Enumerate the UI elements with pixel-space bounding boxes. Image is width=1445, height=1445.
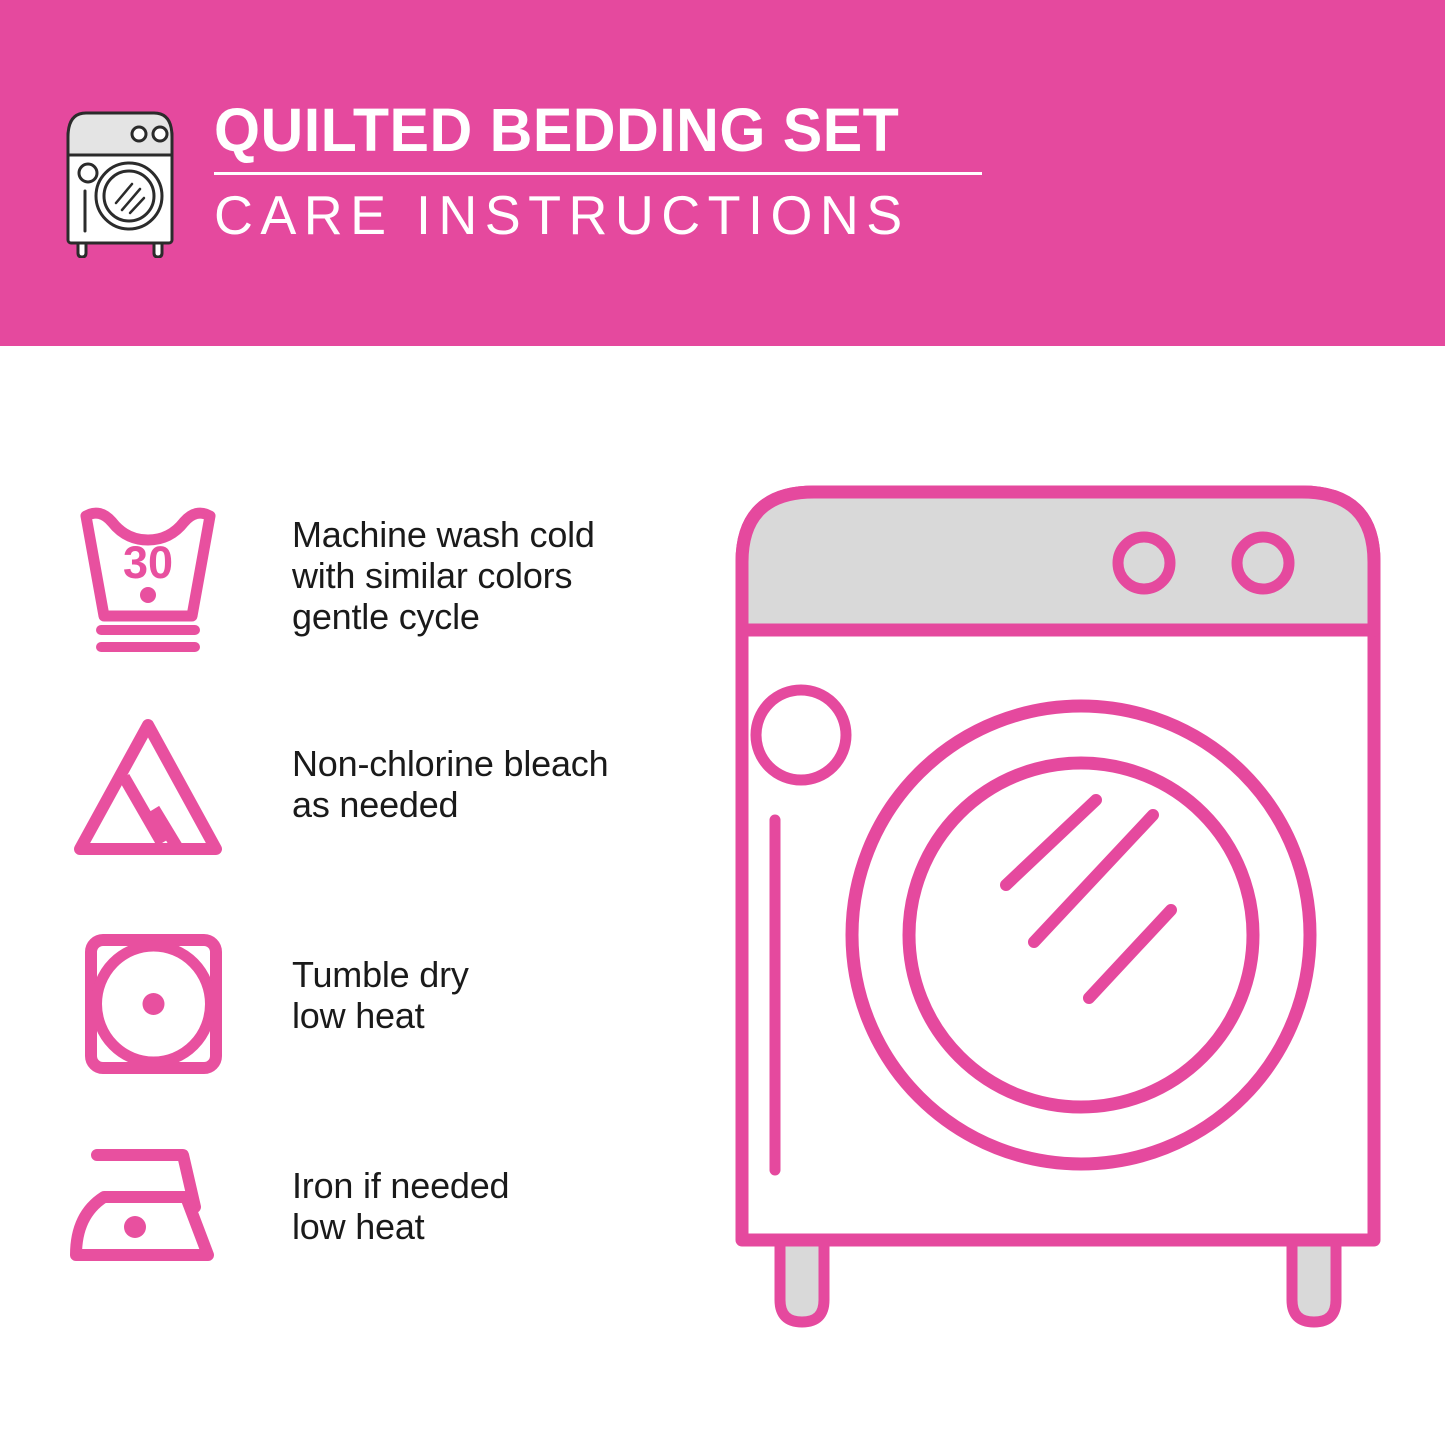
care-text-line: Non-chlorine bleach: [292, 743, 684, 784]
care-instruction-list: 30 Machine wash cold with similar colors…: [64, 492, 684, 1352]
care-text-line: low heat: [292, 995, 684, 1036]
machine-leg-right: [1292, 1238, 1336, 1322]
header-content: QUILTED BEDDING SET CARE INSTRUCTIONS: [56, 95, 996, 260]
bleach-triangle-icon: [64, 707, 234, 867]
control-knob-right: [1237, 537, 1289, 589]
washing-machine-illustration: [718, 470, 1398, 1360]
header-text-column: QUILTED BEDDING SET CARE INSTRUCTIONS: [214, 95, 996, 246]
care-text-line: Machine wash cold: [292, 514, 684, 555]
care-item-iron-label: Iron if needed low heat: [292, 1137, 684, 1247]
care-text-line: low heat: [292, 1206, 684, 1247]
care-text-line: gentle cycle: [292, 596, 684, 637]
control-knob-left: [1118, 537, 1170, 589]
care-item-tumble-dry-label: Tumble dry low heat: [292, 922, 684, 1036]
care-instructions-infographic: QUILTED BEDDING SET CARE INSTRUCTIONS 30: [0, 0, 1445, 1445]
care-item-bleach-label: Non-chlorine bleach as needed: [292, 707, 684, 825]
care-item-wash-label: Machine wash cold with similar colors ge…: [292, 492, 684, 637]
header-banner: QUILTED BEDDING SET CARE INSTRUCTIONS: [0, 0, 1445, 346]
care-text-line: with similar colors: [292, 555, 684, 596]
indicator-circle: [756, 690, 846, 780]
wash-temperature-label: 30: [123, 537, 173, 588]
care-text-line: Tumble dry: [292, 954, 684, 995]
tumble-dry-icon: [64, 922, 234, 1082]
page-subtitle: CARE INSTRUCTIONS: [214, 184, 980, 246]
machine-leg-left: [780, 1238, 824, 1322]
care-text-line: as needed: [292, 784, 684, 825]
care-item-wash: 30 Machine wash cold with similar colors…: [64, 492, 684, 707]
iron-icon: [64, 1137, 234, 1297]
wash-tub-icon: 30: [64, 492, 234, 652]
header-divider: [214, 172, 982, 175]
page-title: QUILTED BEDDING SET: [214, 97, 973, 163]
care-item-tumble-dry: Tumble dry low heat: [64, 922, 684, 1137]
care-item-iron: Iron if needed low heat: [64, 1137, 684, 1352]
care-item-bleach: Non-chlorine bleach as needed: [64, 707, 684, 922]
care-text-line: Iron if needed: [292, 1165, 684, 1206]
washing-machine-icon: [56, 103, 186, 258]
